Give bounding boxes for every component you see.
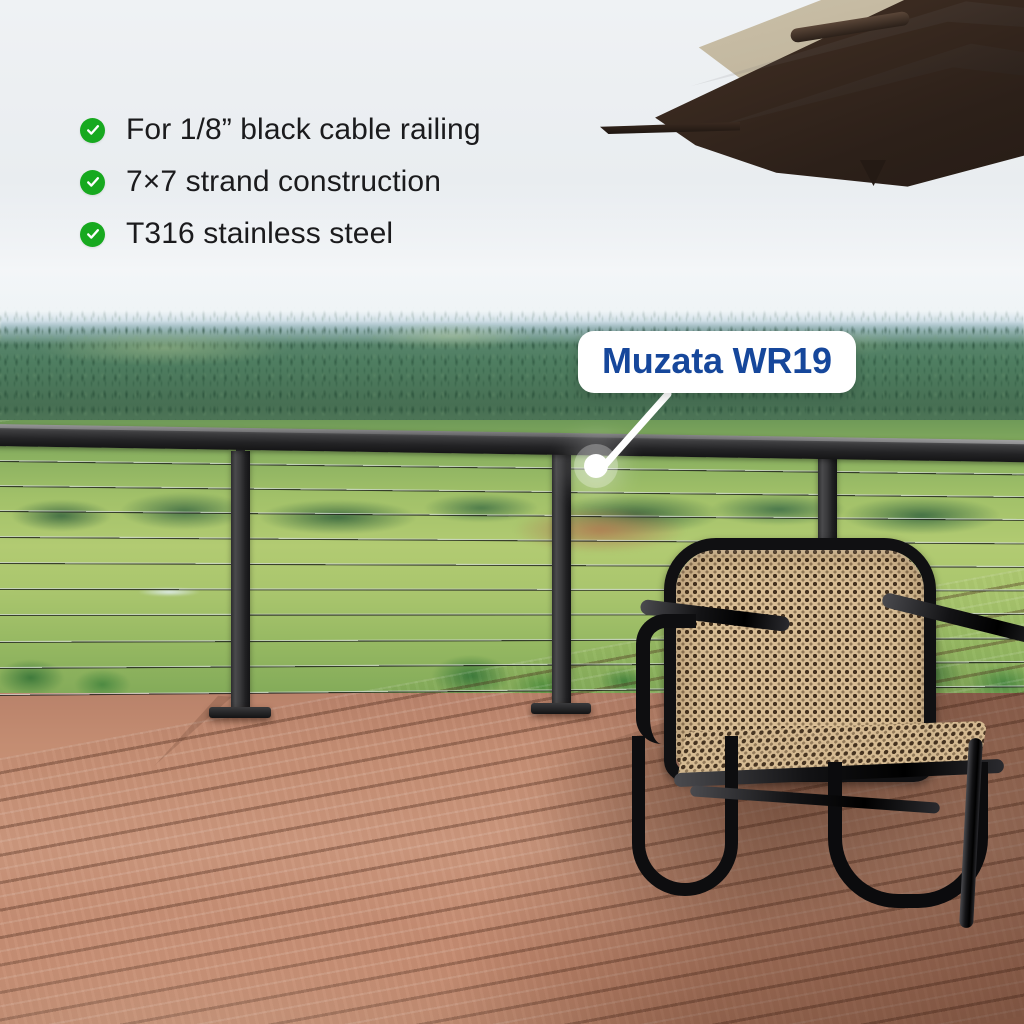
product-lifestyle-image: For 1/8” black cable railing 7×7 strand … (0, 0, 1024, 1024)
railing-post-base (209, 707, 271, 718)
patio-umbrella (560, 0, 1024, 210)
feature-item: For 1/8” black cable railing (80, 104, 600, 156)
product-callout-label: Muzata WR19 (602, 342, 832, 380)
railing-post-base (531, 703, 591, 714)
feature-item: T316 stainless steel (80, 208, 600, 260)
feature-list: For 1/8” black cable railing 7×7 strand … (80, 104, 600, 260)
feature-label: 7×7 strand construction (126, 167, 441, 197)
feature-item: 7×7 strand construction (80, 156, 600, 208)
product-callout-badge: Muzata WR19 (578, 331, 856, 393)
callout-dot-icon (584, 454, 608, 478)
railing-cable (0, 460, 1024, 475)
patio-chair (630, 530, 1024, 960)
check-circle-icon (80, 118, 105, 143)
railing-cable (0, 485, 1024, 498)
feature-label: For 1/8” black cable railing (126, 115, 481, 145)
railing-post (231, 451, 250, 709)
chair-base-loop-left (632, 736, 738, 896)
feature-label: T316 stainless steel (126, 219, 393, 249)
railing-cable (0, 510, 1024, 521)
chair-armrest-left-elbow (636, 614, 696, 744)
check-circle-icon (80, 170, 105, 195)
railing-post (552, 453, 571, 705)
check-circle-icon (80, 222, 105, 247)
